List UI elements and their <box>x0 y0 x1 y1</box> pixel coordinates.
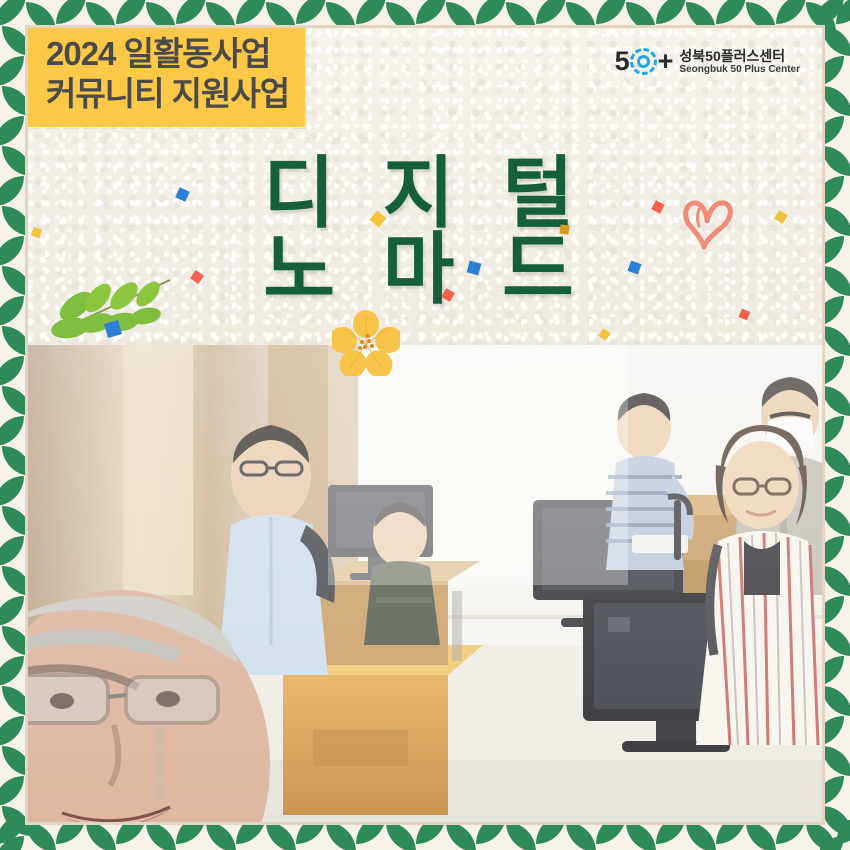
border-leaf <box>822 566 850 596</box>
border-leaf <box>0 536 24 566</box>
border-leaf <box>0 416 24 446</box>
border-leaf <box>686 822 716 850</box>
border-leaf <box>596 820 626 844</box>
border-leaf <box>2 146 30 176</box>
border-leaf <box>146 822 176 850</box>
border-leaf <box>356 0 386 24</box>
poster-card: 2024 일활동사업 커뮤니티 지원사업 5 + 성북50플러스센터 Seong… <box>28 28 822 822</box>
border-leaf <box>206 822 236 850</box>
border-leaf <box>822 746 850 776</box>
border-leaf <box>566 2 596 30</box>
logo-name-korean: 성북50플러스센터 <box>679 48 800 64</box>
border-leaf <box>506 822 536 850</box>
border-leaf <box>626 2 656 30</box>
border-leaf <box>822 206 850 236</box>
border-leaf <box>2 626 30 656</box>
border-leaf <box>820 596 844 626</box>
border-leaf <box>146 2 176 30</box>
border-leaf <box>822 86 850 116</box>
border-leaf <box>506 2 536 30</box>
border-leaf <box>566 822 596 850</box>
banner-line-2: 커뮤니티 지원사업 <box>46 74 289 114</box>
confetti-orange-title <box>559 224 569 234</box>
border-leaf <box>116 0 146 24</box>
border-leaf <box>820 476 844 506</box>
border-leaf <box>820 416 844 446</box>
border-leaf <box>116 820 146 844</box>
border-leaf <box>56 0 86 24</box>
border-leaf <box>0 836 24 850</box>
border-leaf <box>236 820 266 844</box>
border-leaf <box>446 822 476 850</box>
logo-ring-inner <box>637 55 650 68</box>
border-leaf <box>776 0 806 24</box>
logo-digit-five: 5 <box>615 46 629 77</box>
border-leaf <box>0 656 24 686</box>
border-leaf <box>2 206 30 236</box>
border-leaf <box>822 626 850 656</box>
border-leaf <box>356 820 386 844</box>
logo-plus-symbol: + <box>658 46 673 77</box>
border-leaf <box>176 820 206 844</box>
border-leaf <box>820 56 844 86</box>
border-leaf <box>656 820 686 844</box>
border-leaf <box>822 326 850 356</box>
organization-logo: 5 + 성북50플러스센터 Seongbuk 50 Plus Center <box>615 46 800 77</box>
poster-root: 2024 일활동사업 커뮤니티 지원사업 5 + 성북50플러스센터 Seong… <box>0 0 850 850</box>
border-leaf <box>446 2 476 30</box>
border-leaf <box>476 820 506 844</box>
border-leaf <box>0 596 24 626</box>
border-leaf <box>822 686 850 716</box>
border-band-right <box>820 0 850 850</box>
border-leaf <box>0 0 24 26</box>
logo-mark-50plus: 5 + <box>615 46 673 77</box>
border-leaf <box>820 656 844 686</box>
border-leaf <box>820 236 844 266</box>
border-leaf <box>386 822 416 850</box>
border-leaf <box>820 116 844 146</box>
title-banner: 2024 일활동사업 커뮤니티 지원사업 <box>28 28 305 127</box>
border-leaf <box>822 446 850 476</box>
border-leaf <box>0 236 24 266</box>
border-leaf <box>536 820 566 844</box>
border-leaf <box>686 2 716 30</box>
border-leaf <box>746 822 776 850</box>
banner-line-1: 2024 일활동사업 <box>46 34 289 74</box>
border-leaf <box>2 86 30 116</box>
border-leaf <box>536 0 566 24</box>
border-leaf <box>26 822 56 850</box>
logo-concentric-circle-zero-icon <box>630 48 657 75</box>
border-leaf <box>326 2 356 30</box>
border-leaf <box>86 822 116 850</box>
border-leaf <box>0 356 24 386</box>
border-leaf <box>2 746 30 776</box>
border-leaf <box>716 820 746 844</box>
border-leaf <box>0 56 24 86</box>
border-leaf <box>266 822 296 850</box>
border-leaf <box>822 146 850 176</box>
border-leaf <box>2 566 30 596</box>
border-leaf <box>86 2 116 30</box>
border-leaf <box>626 822 656 850</box>
border-leaf <box>820 296 844 326</box>
border-leaf <box>236 0 266 24</box>
border-leaf <box>822 386 850 416</box>
border-leaf <box>822 26 850 56</box>
border-band-top <box>0 0 850 30</box>
heart-doodle-icon <box>676 193 738 255</box>
border-leaf <box>296 0 326 24</box>
border-leaf <box>416 0 446 24</box>
border-leaf <box>56 820 86 844</box>
border-leaf <box>716 0 746 24</box>
border-leaf <box>2 446 30 476</box>
border-leaf <box>822 506 850 536</box>
border-leaf <box>206 2 236 30</box>
border-leaf <box>2 386 30 416</box>
border-leaf <box>2 26 30 56</box>
border-leaf <box>2 506 30 536</box>
border-leaf <box>2 806 30 836</box>
logo-name-english: Seongbuk 50 Plus Center <box>679 64 800 76</box>
border-leaf <box>0 116 24 146</box>
border-leaf <box>296 820 326 844</box>
logo-text-block: 성북50플러스센터 Seongbuk 50 Plus Center <box>679 48 800 76</box>
border-leaf <box>266 2 296 30</box>
flower-decoration-icon <box>332 310 400 376</box>
border-leaf <box>476 0 506 24</box>
border-leaf <box>0 776 24 806</box>
border-leaf <box>0 476 24 506</box>
border-leaf <box>2 686 30 716</box>
border-leaf <box>596 0 626 24</box>
border-leaf <box>176 0 206 24</box>
border-leaf <box>776 820 806 844</box>
border-leaf <box>820 836 844 850</box>
border-leaf <box>386 2 416 30</box>
border-leaf <box>0 176 24 206</box>
border-leaf <box>2 326 30 356</box>
border-leaf <box>820 776 844 806</box>
border-band-left <box>0 0 30 850</box>
border-leaf <box>0 716 24 746</box>
border-leaf <box>820 356 844 386</box>
border-leaf <box>822 266 850 296</box>
border-leaf <box>822 806 850 836</box>
border-leaf <box>820 536 844 566</box>
border-leaf <box>820 176 844 206</box>
border-leaf <box>746 2 776 30</box>
border-leaf <box>26 2 56 30</box>
border-leaf <box>820 0 844 26</box>
border-leaf <box>0 296 24 326</box>
border-leaf <box>656 0 686 24</box>
class-photograph <box>28 345 822 822</box>
border-leaf <box>2 266 30 296</box>
border-band-bottom <box>0 820 850 850</box>
leaf-branch-decoration <box>38 266 198 346</box>
border-leaf <box>820 716 844 746</box>
border-leaf <box>326 822 356 850</box>
border-leaf <box>416 820 446 844</box>
